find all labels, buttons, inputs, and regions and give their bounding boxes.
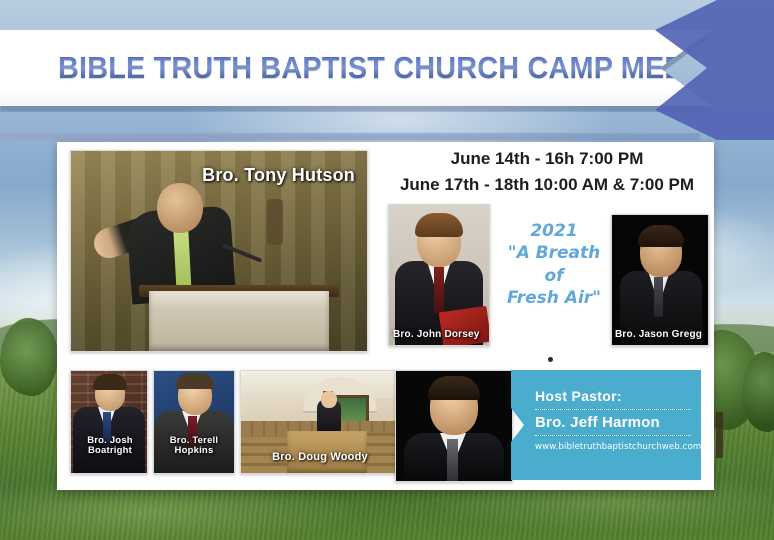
photo-doug-woody: Bro. Doug Woody bbox=[240, 370, 400, 474]
host-pastor-content: Host Pastor: Bro. Jeff Harmon www.biblet… bbox=[535, 388, 691, 452]
schedule-line-2: June 17th - 18th 10:00 AM & 7:00 PM bbox=[382, 172, 712, 198]
photo-jason-gregg: Bro. Jason Gregg bbox=[611, 214, 709, 346]
photo-josh-boatright: Bro. Josh Boatright bbox=[70, 370, 148, 474]
host-pastor-name: Bro. Jeff Harmon bbox=[535, 413, 691, 433]
header-banner: BIBLE TRUTH BAPTIST CHURCH CAMP MEETING bbox=[0, 30, 774, 106]
tree-left-icon bbox=[0, 318, 58, 396]
dorsey-hair bbox=[415, 213, 463, 237]
host-pastor-label: Host Pastor: bbox=[535, 388, 691, 406]
camp-meeting-flyer: BIBLE TRUTH BAPTIST CHURCH CAMP MEETING … bbox=[0, 0, 774, 540]
schedule-line-1: June 14th - 16h 7:00 PM bbox=[382, 145, 712, 172]
gregg-tie bbox=[654, 277, 663, 317]
separator-dot bbox=[548, 357, 553, 362]
theme-block: 2021 "A Breath of Fresh Air" bbox=[498, 220, 610, 310]
photo-terell-hopkins: Bro. Terell Hopkins bbox=[153, 370, 235, 474]
dorsey-tie bbox=[434, 267, 444, 313]
church-website-url[interactable]: www.bibletruthbaptistchurchweb.com bbox=[535, 442, 691, 452]
banner-underline bbox=[0, 133, 700, 140]
photo-jeff-harmon bbox=[395, 370, 513, 482]
harmon-tie bbox=[447, 439, 458, 481]
caption-jason-gregg: Bro. Jason Gregg bbox=[615, 329, 702, 340]
content-card: Bro. Tony Hutson June 14th - 16h 7:00 PM… bbox=[57, 142, 714, 490]
caption-doug-woody: Bro. Doug Woody bbox=[241, 451, 399, 463]
theme-line1: "A Breath bbox=[498, 242, 610, 264]
photo-john-dorsey: Bro. John Dorsey bbox=[388, 204, 490, 346]
tree-trunk bbox=[716, 412, 723, 458]
photo-tony-hutson: Bro. Tony Hutson bbox=[70, 150, 368, 352]
caption-john-dorsey: Bro. John Dorsey bbox=[393, 329, 480, 340]
host-divider-top bbox=[535, 409, 691, 410]
theme-line2: of bbox=[498, 265, 610, 287]
gregg-hair bbox=[638, 225, 684, 247]
host-pastor-panel: Host Pastor: Bro. Jeff Harmon www.biblet… bbox=[511, 370, 701, 480]
banner-ribbon: BIBLE TRUTH BAPTIST CHURCH CAMP MEETING bbox=[0, 30, 712, 106]
host-divider-bottom bbox=[535, 435, 691, 436]
theme-year: 2021 bbox=[498, 220, 610, 242]
preacher-head bbox=[157, 183, 203, 233]
wall-banner bbox=[267, 199, 283, 245]
pulpit bbox=[149, 291, 329, 351]
hopkins-hair bbox=[176, 373, 214, 389]
caption-tony-hutson: Bro. Tony Hutson bbox=[202, 165, 355, 185]
page-title: BIBLE TRUTH BAPTIST CHURCH CAMP MEETING bbox=[58, 50, 753, 86]
boatright-hair bbox=[93, 374, 127, 390]
schedule-block: June 14th - 16h 7:00 PM June 17th - 18th… bbox=[382, 145, 712, 198]
theme-line3: Fresh Air" bbox=[498, 287, 610, 309]
caption-terell-hopkins: Bro. Terell Hopkins bbox=[157, 436, 231, 457]
woody-head bbox=[321, 391, 337, 408]
harmon-hair bbox=[428, 376, 480, 400]
caption-josh-boatright: Bro. Josh Boatright bbox=[74, 436, 146, 457]
